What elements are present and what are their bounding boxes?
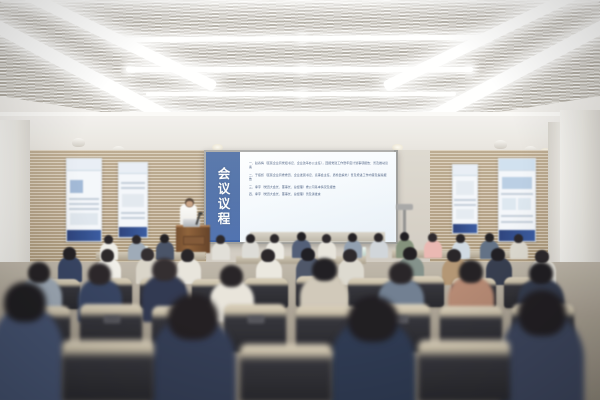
soffit-edge-highlight xyxy=(0,112,600,116)
presenter-face xyxy=(186,201,193,207)
attendee-head xyxy=(491,248,505,261)
wall-poster-left-2 xyxy=(118,162,148,238)
chair-label xyxy=(248,316,264,323)
attendee-head xyxy=(101,249,114,262)
attendee-body xyxy=(424,240,442,258)
attendee-head xyxy=(343,249,357,262)
poster-header xyxy=(453,165,477,176)
attendee-head xyxy=(141,248,154,261)
attendee-head xyxy=(261,249,275,262)
attendee-body xyxy=(212,242,230,260)
attendee-head xyxy=(312,258,337,281)
attendee-head xyxy=(348,233,357,242)
poster-figure-2 xyxy=(456,209,474,220)
foreground-chair xyxy=(418,340,510,400)
attendee-head xyxy=(447,249,461,262)
attendee-body xyxy=(510,241,528,259)
tube-endcap-5 xyxy=(300,67,305,72)
attendee-head xyxy=(459,260,483,283)
speaker-stand-top xyxy=(396,204,413,210)
foreground-chair xyxy=(62,340,154,400)
attendee-head xyxy=(400,232,409,241)
chair-label xyxy=(104,316,120,323)
poster-figure-3 xyxy=(518,198,532,209)
foreground-attendee-head xyxy=(518,290,566,336)
foreground-attendee-head xyxy=(4,282,46,322)
tube-endcap-7 xyxy=(300,92,305,97)
microphone-head xyxy=(198,212,203,215)
agenda-item: 三、承宇（党员大会长、董事长、总经理）委公司基本情况及报告 xyxy=(249,185,389,189)
projection-screen-frame: 会议议程 一、赵春梅（区民企业局党组书记、企业改革办公主任），回报党建工作暨年度… xyxy=(204,150,398,244)
wall-poster-right-2 xyxy=(498,158,536,242)
foreground-attendee-head xyxy=(168,294,218,340)
attendee-head xyxy=(216,235,225,244)
attendee-head xyxy=(428,233,437,242)
foreground-attendee-head xyxy=(348,296,398,342)
attendee-head xyxy=(514,234,523,243)
wall-poster-right-1 xyxy=(452,164,478,234)
attendee-head xyxy=(246,234,255,243)
poster-footer xyxy=(67,230,101,241)
attendee-head xyxy=(485,233,494,242)
poster-figure-2 xyxy=(502,198,516,209)
poster-header xyxy=(499,159,535,171)
projection-screen: 会议议程 一、赵春梅（区民企业局党组书记、企业改革办公主任），回报党建工作暨年度… xyxy=(206,152,396,242)
poster-header xyxy=(119,163,147,174)
foreground-chair xyxy=(240,344,332,400)
attendee-head xyxy=(374,233,383,242)
poster-figure xyxy=(122,194,144,207)
attendee-head xyxy=(104,235,113,244)
attendee-head xyxy=(529,262,553,284)
poster-figure xyxy=(502,177,532,188)
attendee-head xyxy=(28,262,50,283)
conference-room-photo: 会议议程 一、赵春梅（区民企业局党组书记、企业改革办公主任），回报党建工作暨年度… xyxy=(0,0,600,400)
attendee-head xyxy=(63,247,76,260)
attendee-head xyxy=(160,234,169,243)
ceiling-spotlight-right xyxy=(494,140,507,149)
attendee-head xyxy=(301,248,315,261)
tube-endcap-4 xyxy=(126,67,131,72)
tube-endcap-6 xyxy=(468,67,473,72)
attendee-head xyxy=(403,247,417,260)
attendee-head xyxy=(456,234,465,243)
poster-figure xyxy=(70,180,84,193)
poster-figure-2 xyxy=(70,213,98,224)
ceiling-spotlight-left xyxy=(72,138,85,147)
cove-light-top xyxy=(0,0,600,3)
attendee-head xyxy=(152,258,177,281)
attendee-head xyxy=(132,235,141,244)
attendee-head xyxy=(220,265,243,287)
tube-endcap-2 xyxy=(300,36,305,41)
slide-title: 会议议程 xyxy=(214,167,233,227)
wall-poster-left-1 xyxy=(66,158,102,242)
attendee-head xyxy=(322,234,331,243)
agenda-item: 四、承宇（党员大会长、董事长、总经理）普及讲发言 xyxy=(249,192,389,196)
poster-footer xyxy=(453,224,477,233)
agenda-item: 二、于振彪（区民企业局委委员、企业发展书记、竞事会主任、质检监察处）普及增进工作… xyxy=(249,173,389,182)
slide-title-band: 会议议程 xyxy=(206,152,240,242)
poster-header xyxy=(67,159,101,171)
slide-body: 一、赵春梅（区民企业局党组书记、企业改革办公主任），回报党建工作暨年度计划事项报… xyxy=(240,152,396,242)
attendee-body xyxy=(318,241,336,259)
attendee-head xyxy=(389,262,413,284)
attendee-head xyxy=(270,234,279,243)
agenda-item: 一、赵春梅（区民企业局党组书记、企业改革办公主任），回报党建工作暨年度计划事项报… xyxy=(249,161,389,170)
attendee-head xyxy=(181,249,194,262)
attendee-head xyxy=(297,232,306,241)
attendee-head xyxy=(88,263,111,285)
podium-nameplate xyxy=(183,236,205,245)
attendee-body xyxy=(370,240,388,258)
water-bottle-2 xyxy=(362,247,366,256)
poster-figure xyxy=(456,181,474,195)
